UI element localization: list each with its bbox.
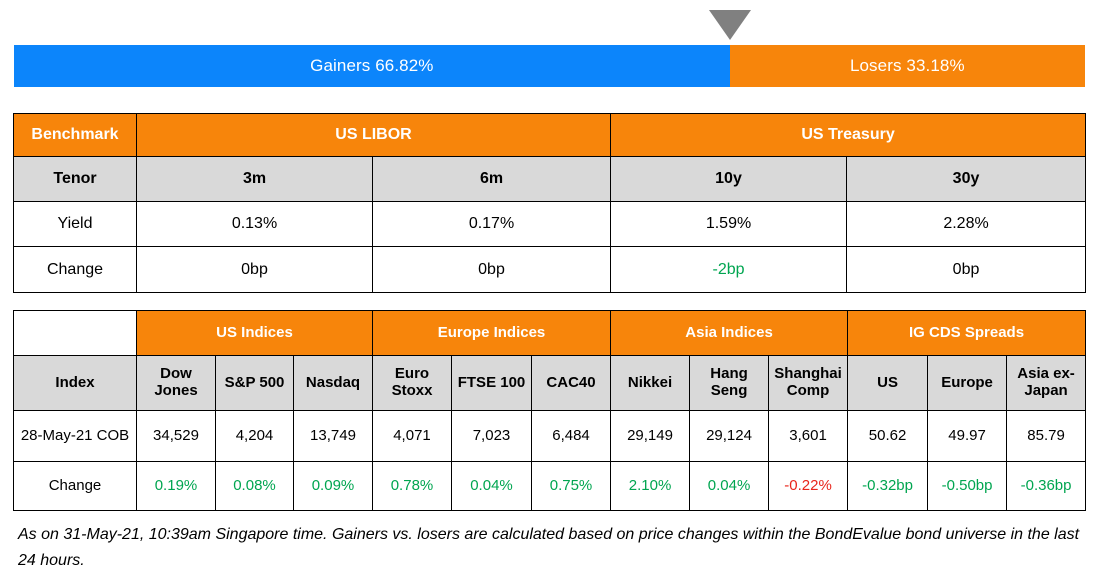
column-header-asia-ex-japan-cds: Asia ex-Japan <box>1007 356 1086 411</box>
change-cac40: 0.75% <box>532 462 611 511</box>
bond-market-summary-page: Gainers 66.82% Losers 33.18% Benchmark U… <box>0 0 1097 577</box>
column-header-6m: 6m <box>373 157 611 202</box>
change-sp-500: 0.08% <box>216 462 294 511</box>
change-dow-jones: 0.19% <box>137 462 216 511</box>
column-header-us-cds: US <box>848 356 928 411</box>
column-header-3m: 3m <box>137 157 373 202</box>
change-asia-ex-japan-cds: -0.36bp <box>1007 462 1086 511</box>
column-header-sp-500: S&P 500 <box>216 356 294 411</box>
table-row-change: Change 0bp 0bp -2bp 0bp <box>14 247 1086 293</box>
indices-corner-blank <box>14 311 137 356</box>
benchmark-corner-label: Benchmark <box>14 114 137 157</box>
column-header-30y: 30y <box>847 157 1086 202</box>
yield-6m: 0.17% <box>373 202 611 247</box>
row-label-yield: Yield <box>14 202 137 247</box>
gainers-segment: Gainers 66.82% <box>14 45 730 87</box>
change-us-cds: -0.32bp <box>848 462 928 511</box>
value-nikkei: 29,149 <box>611 411 690 462</box>
table-row-group-header: US Indices Europe Indices Asia Indices I… <box>14 311 1086 356</box>
column-header-cac40: CAC40 <box>532 356 611 411</box>
change-6m: 0bp <box>373 247 611 293</box>
column-header-10y: 10y <box>611 157 847 202</box>
column-header-nikkei: Nikkei <box>611 356 690 411</box>
value-cac40: 6,484 <box>532 411 611 462</box>
losers-label: Losers 33.18% <box>850 56 965 76</box>
benchmark-rates-table: Benchmark US LIBOR US Treasury Tenor 3m … <box>13 113 1086 293</box>
column-header-dow-jones: Dow Jones <box>137 356 216 411</box>
change-30y: 0bp <box>847 247 1086 293</box>
value-sp-500: 4,204 <box>216 411 294 462</box>
change-nasdaq: 0.09% <box>294 462 373 511</box>
column-header-ftse-100: FTSE 100 <box>452 356 532 411</box>
column-header-shanghai-comp: Shanghai Comp <box>769 356 848 411</box>
gainers-label: Gainers 66.82% <box>310 56 433 76</box>
group-header-ig-cds-spreads: IG CDS Spreads <box>848 311 1086 356</box>
table-row-group-header: Benchmark US LIBOR US Treasury <box>14 114 1086 157</box>
value-ftse-100: 7,023 <box>452 411 532 462</box>
market-indices-table: US Indices Europe Indices Asia Indices I… <box>13 310 1086 511</box>
change-europe-cds: -0.50bp <box>928 462 1007 511</box>
value-europe-cds: 49.97 <box>928 411 1007 462</box>
change-euro-stoxx: 0.78% <box>373 462 452 511</box>
change-ftse-100: 0.04% <box>452 462 532 511</box>
yield-10y: 1.59% <box>611 202 847 247</box>
table-row-tenor: Tenor 3m 6m 10y 30y <box>14 157 1086 202</box>
value-nasdaq: 13,749 <box>294 411 373 462</box>
value-hang-seng: 29,124 <box>690 411 769 462</box>
row-label-cob-date: 28-May-21 COB <box>14 411 137 462</box>
row-label-change: Change <box>14 247 137 293</box>
value-us-cds: 50.62 <box>848 411 928 462</box>
gainers-losers-bar: Gainers 66.82% Losers 33.18% <box>14 10 1085 88</box>
table-row-close-values: 28-May-21 COB 34,529 4,204 13,749 4,071 … <box>14 411 1086 462</box>
column-header-nasdaq: Nasdaq <box>294 356 373 411</box>
change-nikkei: 2.10% <box>611 462 690 511</box>
value-euro-stoxx: 4,071 <box>373 411 452 462</box>
group-header-europe-indices: Europe Indices <box>373 311 611 356</box>
group-header-us-libor: US LIBOR <box>137 114 611 157</box>
footnote-text: As on 31-May-21, 10:39am Singapore time.… <box>18 522 1080 573</box>
row-label-index: Index <box>14 356 137 411</box>
row-label-tenor: Tenor <box>14 157 137 202</box>
table-row-yield: Yield 0.13% 0.17% 1.59% 2.28% <box>14 202 1086 247</box>
group-header-asia-indices: Asia Indices <box>611 311 848 356</box>
gainers-losers-track: Gainers 66.82% Losers 33.18% <box>14 45 1085 87</box>
yield-30y: 2.28% <box>847 202 1086 247</box>
table-row-column-headers: Index Dow Jones S&P 500 Nasdaq Euro Stox… <box>14 356 1086 411</box>
losers-segment: Losers 33.18% <box>730 45 1085 87</box>
value-dow-jones: 34,529 <box>137 411 216 462</box>
change-hang-seng: 0.04% <box>690 462 769 511</box>
column-header-europe-cds: Europe <box>928 356 1007 411</box>
value-shanghai-comp: 3,601 <box>769 411 848 462</box>
change-shanghai-comp: -0.22% <box>769 462 848 511</box>
column-header-hang-seng: Hang Seng <box>690 356 769 411</box>
change-10y: -2bp <box>611 247 847 293</box>
group-header-us-treasury: US Treasury <box>611 114 1086 157</box>
column-header-euro-stoxx: Euro Stoxx <box>373 356 452 411</box>
row-label-change: Change <box>14 462 137 511</box>
split-marker-triangle-icon <box>709 10 751 40</box>
yield-3m: 0.13% <box>137 202 373 247</box>
table-row-change: Change 0.19% 0.08% 0.09% 0.78% 0.04% 0.7… <box>14 462 1086 511</box>
value-asia-ex-japan-cds: 85.79 <box>1007 411 1086 462</box>
change-3m: 0bp <box>137 247 373 293</box>
group-header-us-indices: US Indices <box>137 311 373 356</box>
